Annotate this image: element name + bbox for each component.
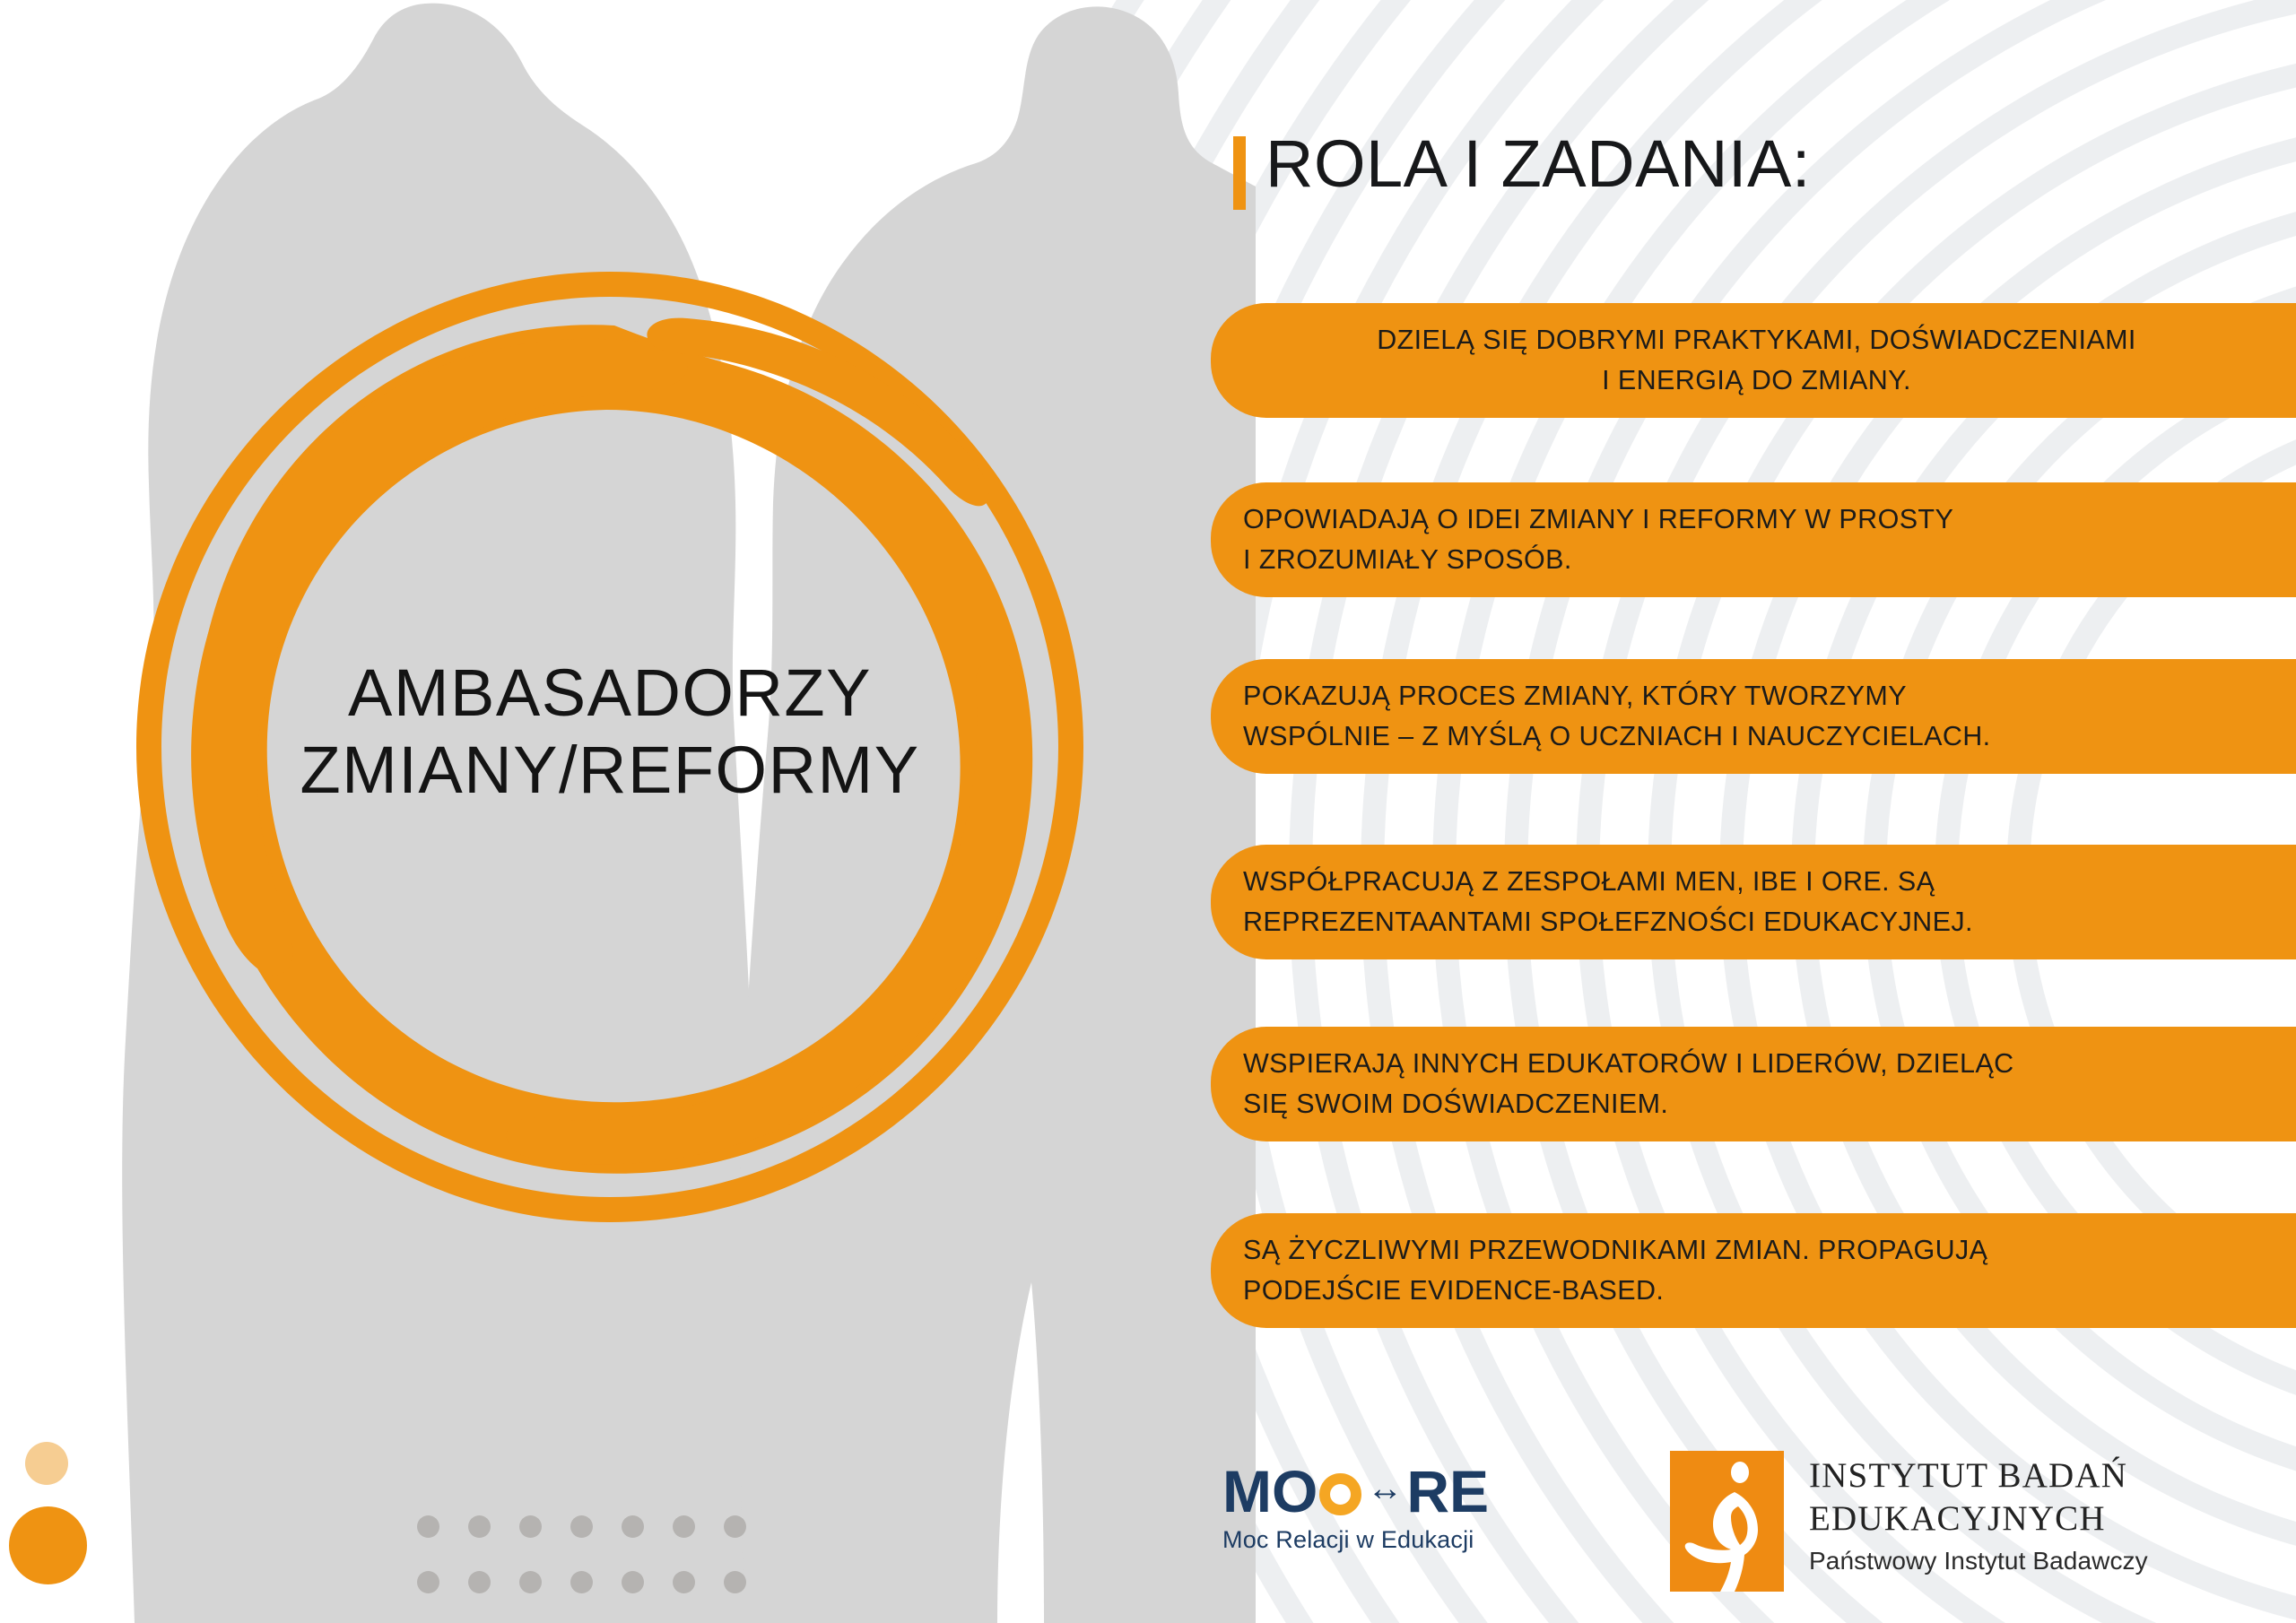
task-bar-text: WSPIERAJĄ INNYCH EDUKATORÓW I LIDERÓW, D…: [1243, 1044, 2270, 1124]
grid-dot: [673, 1515, 695, 1538]
ibe-logo-text: INSTYTUT BADAŃ EDUKACYJNYCH Państwowy In…: [1809, 1451, 2148, 1575]
task-bar: OPOWIADAJĄ O IDEI ZMIANY I REFORMY W PRO…: [1211, 482, 2296, 597]
task-bar: DZIELĄ SIĘ DOBRYMI PRAKTYKAMI, DOŚWIADCZ…: [1211, 303, 2296, 418]
grid-dot: [519, 1571, 542, 1593]
grid-dot: [724, 1571, 746, 1593]
ibe-logo-line1: INSTYTUT BADAŃ: [1809, 1454, 2148, 1497]
grid-dot: [417, 1571, 439, 1593]
grid-dot: [519, 1515, 542, 1538]
task-bar-text: DZIELĄ SIĘ DOBRYMI PRAKTYKAMI, DOŚWIADCZ…: [1243, 320, 2270, 401]
section-title: ROLA I ZADANIA:: [1233, 133, 1811, 210]
people-silhouettes: [0, 0, 1256, 1623]
title-accent-bar: [1233, 136, 1246, 210]
more-logo-arrow-icon: ↔: [1367, 1471, 1403, 1506]
page-title: ROLA I ZADANIA:: [1265, 133, 1811, 195]
more-logo-part2: RE: [1406, 1462, 1489, 1521]
ibe-logo-mark-icon: [1670, 1451, 1784, 1592]
more-logo-part1: MO: [1222, 1462, 1318, 1521]
more-logo: MO ↔ RE Moc Relacji w Edukacji: [1222, 1461, 1527, 1554]
grid-dot: [468, 1515, 491, 1538]
task-bar: WSPÓŁPRACUJĄ Z ZESPOŁAMI MEN, IBE I ORE.…: [1211, 845, 2296, 959]
grid-dot: [417, 1515, 439, 1538]
task-bar: WSPIERAJĄ INNYCH EDUKATORÓW I LIDERÓW, D…: [1211, 1027, 2296, 1141]
task-bar-text: POKAZUJĄ PROCES ZMIANY, KTÓRY TWORZYMY W…: [1243, 676, 2270, 757]
task-bar-text: OPOWIADAJĄ O IDEI ZMIANY I REFORMY W PRO…: [1243, 499, 2270, 580]
grid-dot: [673, 1571, 695, 1593]
ibe-logo: INSTYTUT BADAŃ EDUKACYJNYCH Państwowy In…: [1670, 1451, 2148, 1592]
right-content-column: ROLA I ZADANIA: DZIELĄ SIĘ DOBRYMI PRAKT…: [1211, 0, 2296, 1623]
grid-dot: [724, 1515, 746, 1538]
more-wordmark: MO ↔ RE: [1222, 1461, 1527, 1522]
task-bar: SĄ ŻYCZLIWYMI PRZEWODNIKAMI ZMIAN. PROPA…: [1211, 1213, 2296, 1328]
task-bar-text: WSPÓŁPRACUJĄ Z ZESPOŁAMI MEN, IBE I ORE.…: [1243, 862, 2270, 942]
grid-dot: [468, 1571, 491, 1593]
more-logo-tagline: Moc Relacji w Edukacji: [1222, 1527, 1527, 1554]
decor-dot-grid: [417, 1515, 775, 1623]
task-bar-text: SĄ ŻYCZLIWYMI PRZEWODNIKAMI ZMIAN. PROPA…: [1243, 1230, 2270, 1311]
decor-dot-orange: [9, 1506, 87, 1584]
ibe-logo-line2: EDUKACYJNYCH: [1809, 1497, 2148, 1541]
grid-dot: [570, 1571, 593, 1593]
grid-dot: [570, 1515, 593, 1538]
grid-dot: [622, 1515, 644, 1538]
task-bar: POKAZUJĄ PROCES ZMIANY, KTÓRY TWORZYMY W…: [1211, 659, 2296, 774]
decor-dot-light-orange: [25, 1442, 68, 1485]
infographic-slide: AMBASADORZY ZMIANY/REFORMY ROLA I ZADANI…: [0, 0, 2296, 1623]
circle-center-label: AMBASADORZY ZMIANY/REFORMY: [220, 655, 1000, 809]
grid-dot: [622, 1571, 644, 1593]
ibe-logo-subtitle: Państwowy Instytut Badawczy: [1809, 1547, 2148, 1575]
more-logo-o-ring-icon: [1319, 1473, 1361, 1515]
